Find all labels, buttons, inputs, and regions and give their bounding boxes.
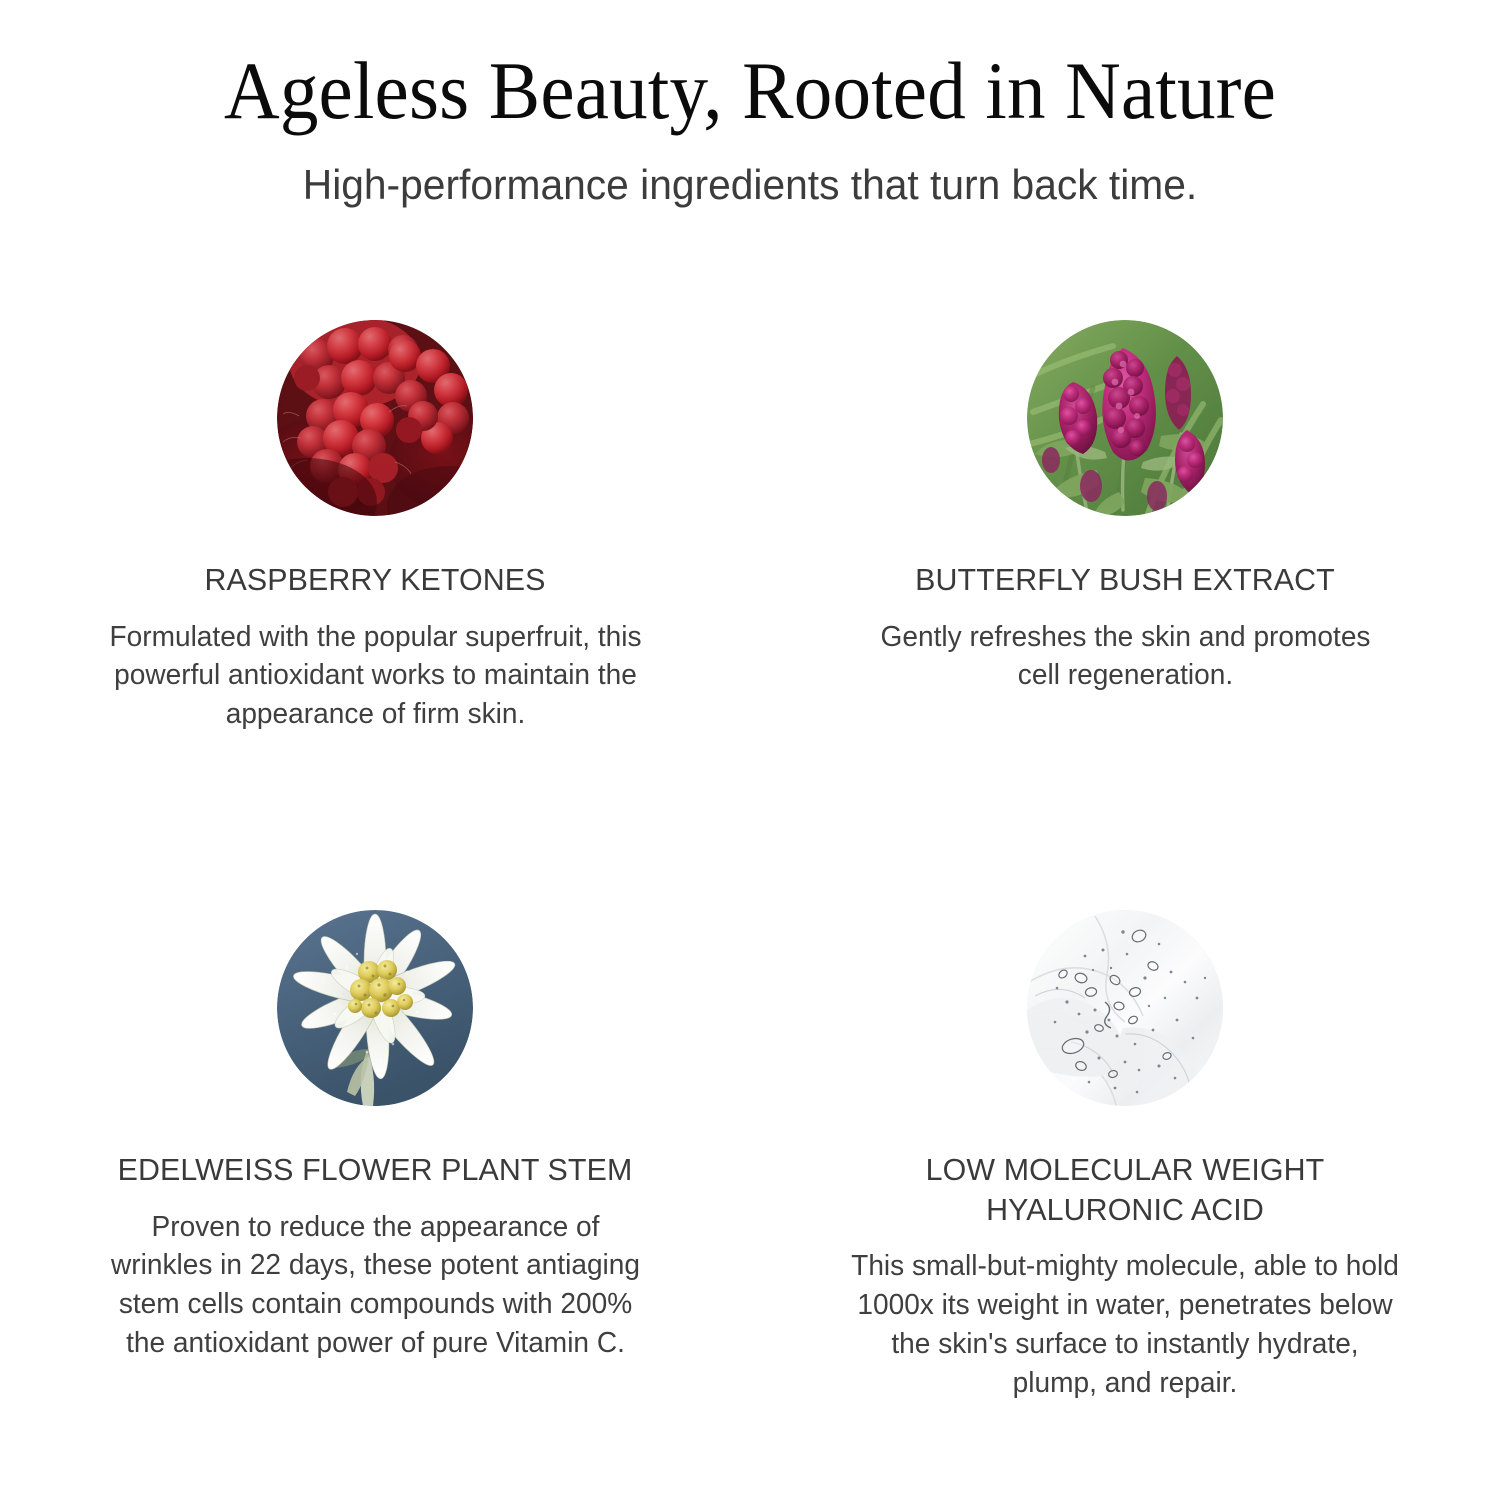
ingredient-name: RASPBERRY KETONES (81, 560, 669, 600)
ingredient-card-butterfly-bush-extract: BUTTERFLY BUSH EXTRACT Gently refreshes … (750, 320, 1500, 734)
edelweiss-flower-photo (277, 910, 473, 1106)
ingredient-grid: RASPBERRY KETONES Formulated with the po… (0, 320, 1500, 1402)
page-title: Ageless Beauty, Rooted in Nature (45, 48, 1455, 134)
ingredient-benefits-infographic: Ageless Beauty, Rooted in Nature High-pe… (0, 0, 1500, 1500)
hyaluronic-acid-gel-photo (1027, 910, 1223, 1106)
ingredient-description: Proven to reduce the appearance of wrink… (107, 1208, 644, 1363)
edelweiss-illustration (277, 910, 473, 1106)
thumbnail-wrapper (0, 910, 750, 1106)
butterfly-bush-photo (1027, 320, 1223, 516)
thumbnail-wrapper (750, 910, 1500, 1106)
thumbnail-wrapper (0, 320, 750, 516)
header: Ageless Beauty, Rooted in Nature High-pe… (0, 48, 1500, 210)
ingredient-card-raspberry-ketones: RASPBERRY KETONES Formulated with the po… (0, 320, 750, 734)
butterfly-bush-illustration (1027, 320, 1223, 516)
raspberry-photo (277, 320, 473, 516)
hyaluronic-gel-illustration (1027, 910, 1223, 1106)
ingredient-card-low-molecular-weight-hyaluronic-acid: LOW MOLECULAR WEIGHT HYALURONIC ACID Thi… (750, 734, 1500, 1402)
ingredient-name: EDELWEISS FLOWER PLANT STEM (81, 1150, 669, 1190)
page-subtitle: High-performance ingredients that turn b… (23, 160, 1478, 210)
ingredient-name: BUTTERFLY BUSH EXTRACT (831, 560, 1419, 600)
ingredient-description: Gently refreshes the skin and promotes c… (857, 618, 1394, 696)
ingredient-description: Formulated with the popular superfruit, … (107, 618, 644, 734)
ingredient-card-edelweiss-flower-plant-stem: EDELWEISS FLOWER PLANT STEM Proven to re… (0, 734, 750, 1402)
raspberry-illustration (277, 320, 473, 516)
thumbnail-wrapper (750, 320, 1500, 516)
ingredient-description: This small-but-mighty molecule, able to … (851, 1247, 1399, 1402)
ingredient-name: LOW MOLECULAR WEIGHT HYALURONIC ACID (831, 1150, 1419, 1229)
